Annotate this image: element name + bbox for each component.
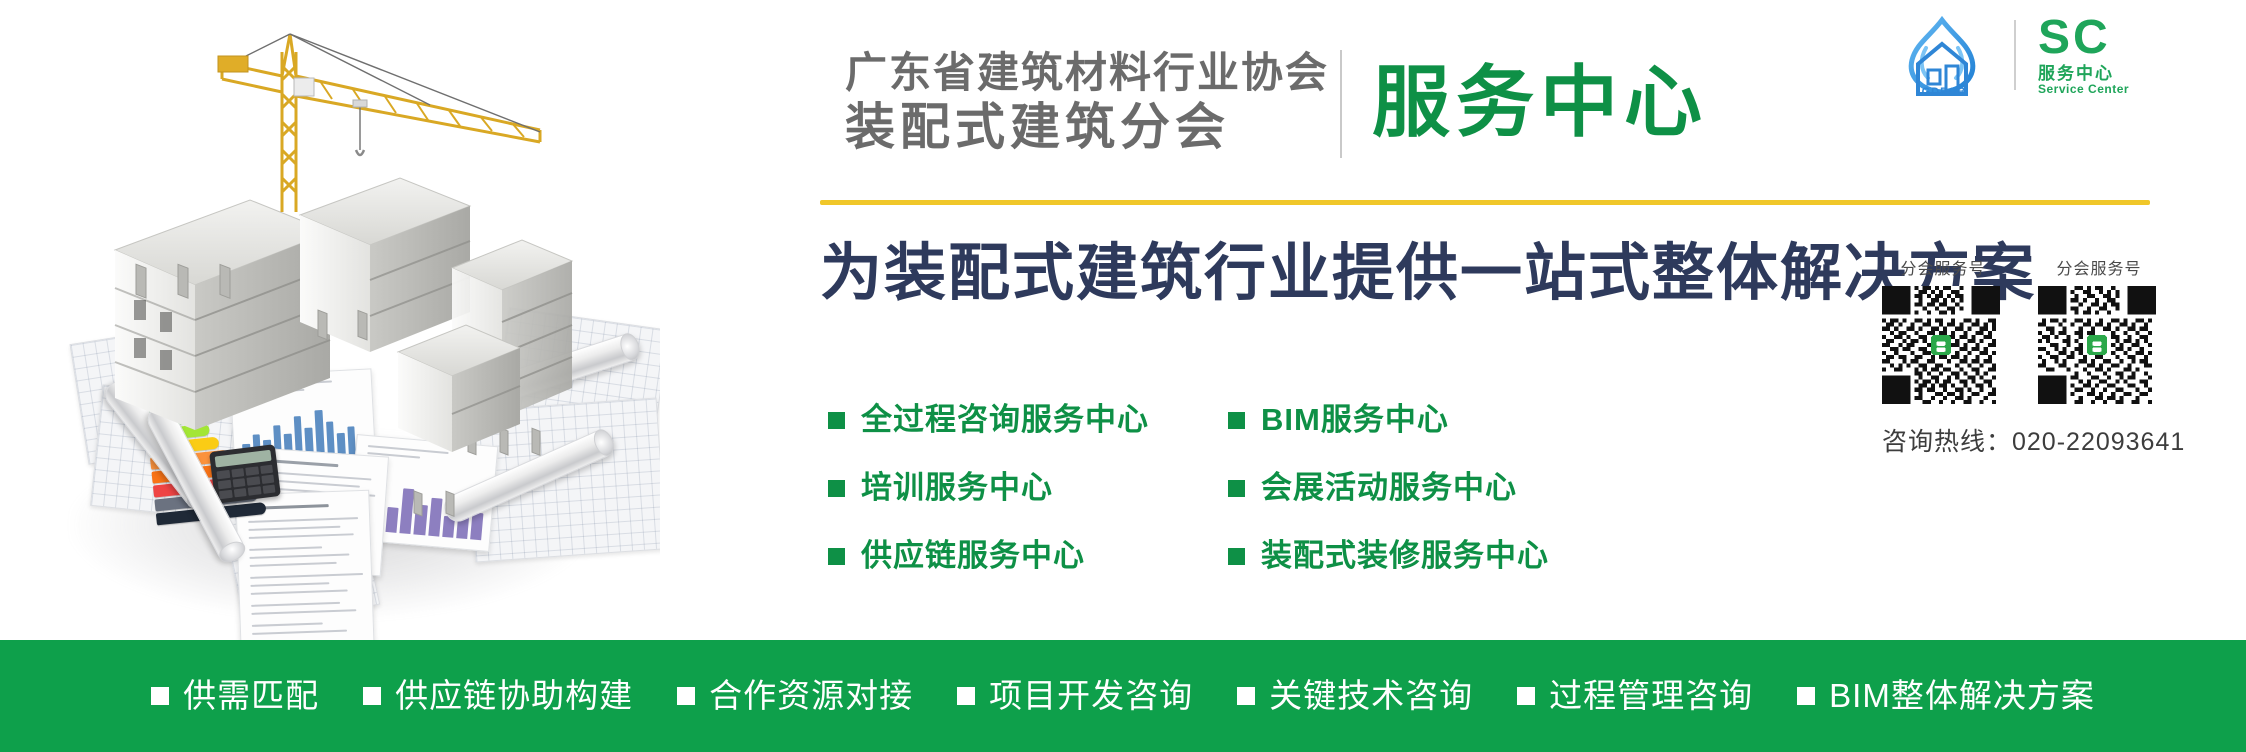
service-item-label: 供应链服务中心 <box>861 536 1085 576</box>
bullet-square-icon <box>1228 548 1245 565</box>
bullet-square-icon <box>957 687 975 705</box>
logo-mark-caption: GDPCB <box>1894 86 1994 98</box>
bullet-square-icon <box>677 687 695 705</box>
logo-sc-cn: 服务中心 <box>2038 64 2114 84</box>
content-area: GDPCB SC 服务中心 Service Center 广东省建筑材料行业协会… <box>660 0 2246 640</box>
service-item[interactable]: 供应链服务中心 <box>828 536 1228 576</box>
service-item-label: BIM服务中心 <box>1261 400 1449 440</box>
service-item-label: 会展活动服务中心 <box>1261 468 1517 508</box>
footer-item[interactable]: 供应链协助构建 <box>341 674 655 718</box>
service-center-title: 服务中心 <box>1372 48 1708 156</box>
footer-item[interactable]: 过程管理咨询 <box>1495 674 1775 718</box>
footer-item[interactable]: 供需匹配 <box>129 674 341 718</box>
bullet-square-icon <box>1228 480 1245 497</box>
service-item-label: 装配式装修服务中心 <box>1261 536 1549 576</box>
bullet-square-icon <box>828 480 845 497</box>
banner-root: GDPCB SC 服务中心 Service Center 广东省建筑材料行业协会… <box>0 0 2246 752</box>
yellow-divider-rule <box>820 200 2150 205</box>
qr-code-image[interactable] <box>1882 286 2000 404</box>
bullet-square-icon <box>828 412 845 429</box>
service-item[interactable]: 装配式装修服务中心 <box>1228 536 1628 576</box>
qr-code-item[interactable]: 分会服务号 <box>1882 258 2004 404</box>
title-vertical-divider <box>1340 50 1342 158</box>
brand-logo[interactable]: GDPCB SC 服务中心 Service Center <box>1886 14 2226 98</box>
qr-block: 分会服务号 <box>1882 258 2222 458</box>
association-title-line1: 广东省建筑材料行业协会 <box>845 48 1329 98</box>
footer-item-label: 关键技术咨询 <box>1269 674 1473 718</box>
qr-code-item[interactable]: 分会服务号 <box>2038 258 2160 404</box>
headline: 为装配式建筑行业提供一站式整体解决方案 <box>820 235 2036 313</box>
service-item[interactable]: 全过程咨询服务中心 <box>828 400 1228 440</box>
association-title: 广东省建筑材料行业协会 装配式建筑分会 <box>845 48 1329 156</box>
qr-caption: 分会服务号 <box>2038 258 2160 282</box>
bullet-square-icon <box>363 687 381 705</box>
hotline-text: 咨询热线：020-22093641 <box>1882 426 2222 458</box>
logo-divider <box>2014 20 2016 90</box>
qr-caption: 分会服务号 <box>1882 258 2004 282</box>
calculator-icon <box>209 444 281 504</box>
bullet-square-icon <box>151 687 169 705</box>
footer-item-label: 供应链协助构建 <box>395 674 633 718</box>
service-item[interactable]: 会展活动服务中心 <box>1228 468 1628 508</box>
service-item[interactable]: BIM服务中心 <box>1228 400 1628 440</box>
service-item-label: 培训服务中心 <box>861 468 1053 508</box>
footer-item-label: 过程管理咨询 <box>1549 674 1753 718</box>
service-item[interactable]: 培训服务中心 <box>828 468 1228 508</box>
logo-sc-text: SC <box>2038 12 2111 64</box>
bullet-square-icon <box>1237 687 1255 705</box>
footer-item[interactable]: BIM整体解决方案 <box>1775 674 2117 718</box>
bullet-square-icon <box>1517 687 1535 705</box>
logo-sc-en: Service Center <box>2038 82 2129 96</box>
service-item-label: 全过程咨询服务中心 <box>861 400 1149 440</box>
footer-item-label: BIM整体解决方案 <box>1829 674 2095 718</box>
footer-item-label: 供需匹配 <box>183 674 319 718</box>
footer-item[interactable]: 合作资源对接 <box>655 674 935 718</box>
association-title-line2: 装配式建筑分会 <box>845 98 1329 156</box>
bullet-square-icon <box>1228 412 1245 429</box>
hero-photo <box>0 0 660 640</box>
bullet-square-icon <box>828 548 845 565</box>
footer-bar: 供需匹配 供应链协助构建 合作资源对接 项目开发咨询 关键技术咨询 过程管理咨询… <box>0 640 2246 752</box>
footer-item[interactable]: 关键技术咨询 <box>1215 674 1495 718</box>
footer-item-label: 项目开发咨询 <box>989 674 1193 718</box>
footer-item-label: 合作资源对接 <box>709 674 913 718</box>
footer-item[interactable]: 项目开发咨询 <box>935 674 1215 718</box>
bullet-square-icon <box>1797 687 1815 705</box>
service-list: 全过程咨询服务中心 BIM服务中心 培训服务中心 会展活动服务中心 供应链服务中… <box>828 400 1628 576</box>
qr-code-image[interactable] <box>2038 286 2156 404</box>
